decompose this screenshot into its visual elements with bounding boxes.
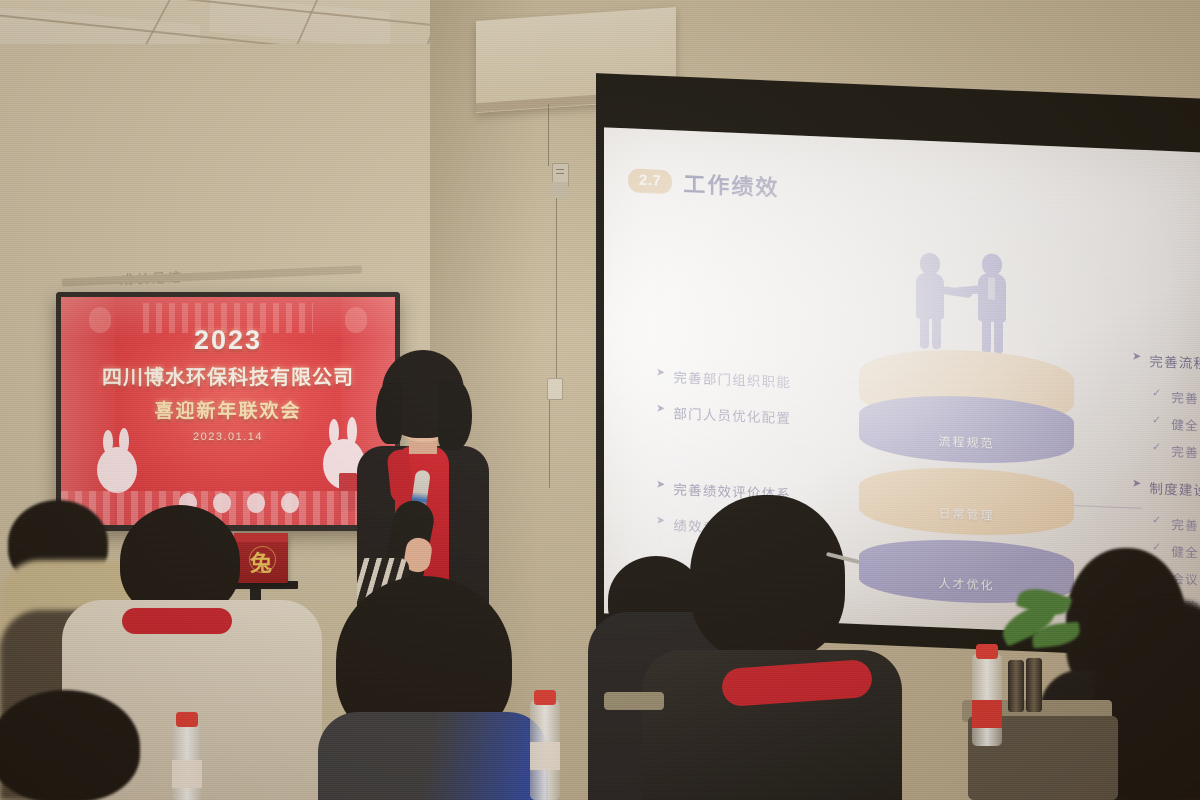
thermos-cup-b [1026,658,1042,712]
hanging-cable-b [556,198,557,380]
attendee-head-mid-b [690,495,845,660]
bottle-cap-right [976,644,998,659]
attendee-red-scarf-beige [122,608,232,634]
bottle-cap-mid [534,690,556,705]
hanging-cable-a [548,104,549,166]
gift-box-character: 兔 [234,546,288,578]
rabbit-ear-left-b [119,428,129,454]
presenter-hair-left [376,382,402,444]
bottle-cap-left [176,712,198,727]
small-rabbit-2 [213,493,231,513]
bottle-label-right [972,700,1002,728]
rabbit-ear-left-a [103,430,113,454]
conference-room-photo: 2.7 工作绩效 ➤ 完善部门组织职能 ➤ 部门人员优化配置 ➤ 完善绩效评价体… [0,0,1200,800]
hanging-cable-c [549,398,550,488]
bottle-label-left [172,760,202,788]
gift-box-rim [234,533,288,542]
bottle-label-mid [530,742,560,770]
rabbit-icon-left [97,447,137,493]
power-plug [550,182,568,198]
cable-switch[interactable] [547,378,563,400]
rabbit-gift-box: 兔 [234,533,288,583]
presenter-hair-right [438,380,472,450]
small-rabbit-3 [247,493,265,513]
attendee-blue-jacket [318,712,548,800]
small-rabbit-4 [281,493,299,513]
attendee-head-small-left [0,690,140,800]
thermos-cup-a [1008,660,1024,712]
chair-arm-mid [604,692,664,710]
